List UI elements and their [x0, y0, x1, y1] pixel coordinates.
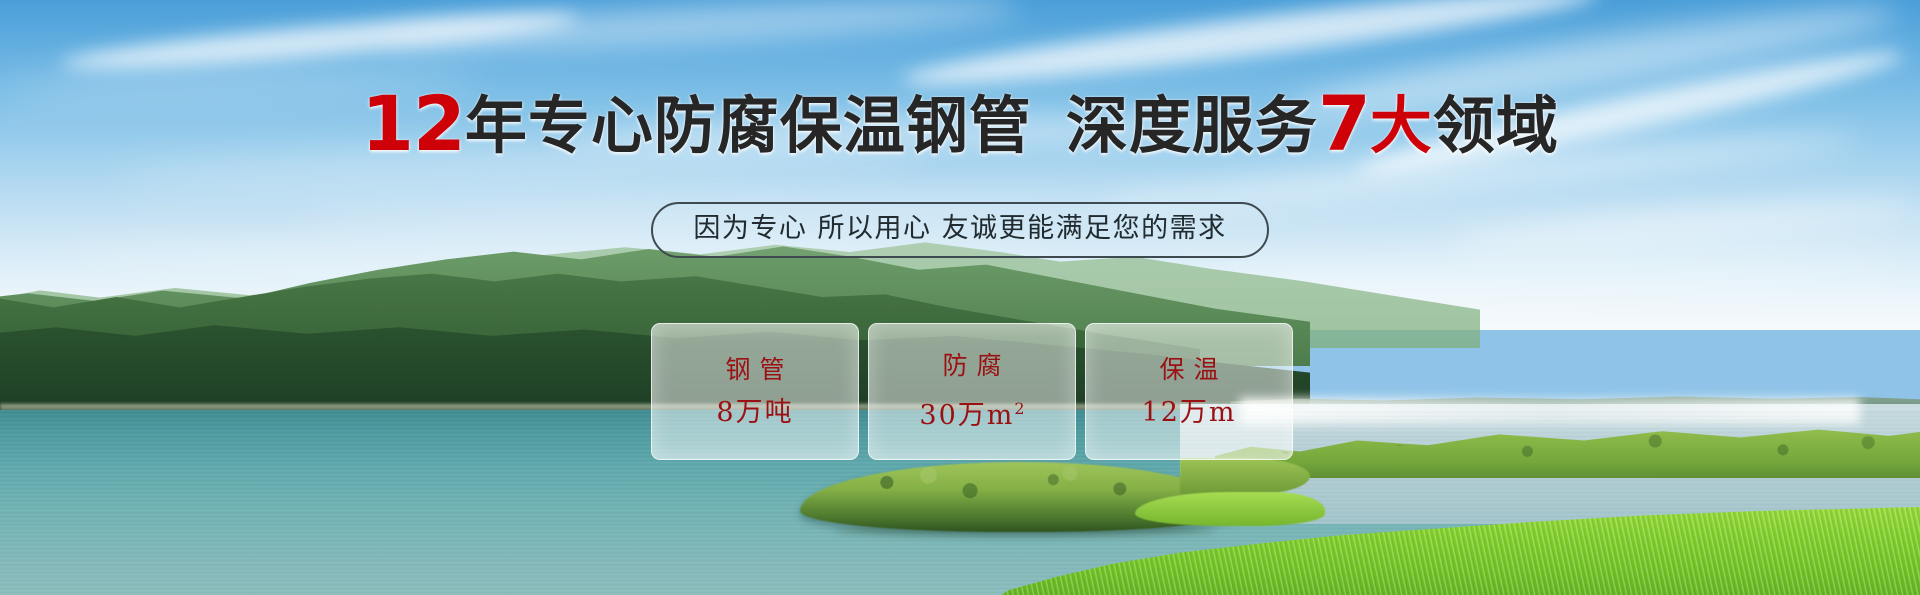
headline-part3: 大	[1370, 89, 1433, 162]
stat-value-text: 30万m	[919, 400, 1014, 431]
stat-cards: 钢管 8万吨 防腐 30万m2 保温 12万m	[651, 323, 1293, 460]
stat-card-title: 钢管	[716, 356, 793, 384]
stat-value-superscript: 2	[1014, 399, 1024, 418]
headline-part2: 深度服务	[1066, 89, 1318, 162]
stat-card-title: 保温	[1150, 356, 1227, 384]
stat-card-steel-pipe: 钢管 8万吨	[651, 323, 859, 460]
banner-content: 12年专心防腐保温钢管深度服务7大领域 因为专心 所以用心 友诚更能满足您的需求…	[0, 0, 1920, 595]
stat-value-text: 12万m	[1142, 397, 1237, 428]
stat-value-text: 8万吨	[716, 397, 793, 428]
stat-card-value: 30万m2	[919, 394, 1024, 431]
headline-part1: 年专心防腐保温钢管	[465, 89, 1032, 162]
stat-card-insulation: 保温 12万m	[1085, 323, 1293, 460]
subtitle-container: 因为专心 所以用心 友诚更能满足您的需求	[0, 202, 1920, 258]
stat-card-anticorrosion: 防腐 30万m2	[868, 323, 1076, 460]
headline-years-number: 12	[361, 79, 465, 168]
headline-fields-number: 7	[1318, 79, 1370, 168]
stat-card-value: 8万吨	[716, 398, 793, 428]
subtitle-pill: 因为专心 所以用心 友诚更能满足您的需求	[651, 202, 1268, 258]
headline: 12年专心防腐保温钢管深度服务7大领域	[0, 92, 1920, 158]
stat-card-title: 防腐	[933, 352, 1010, 380]
headline-part4: 领域	[1433, 89, 1559, 162]
hero-banner: 12年专心防腐保温钢管深度服务7大领域 因为专心 所以用心 友诚更能满足您的需求…	[0, 0, 1920, 595]
stat-card-value: 12万m	[1142, 398, 1237, 428]
